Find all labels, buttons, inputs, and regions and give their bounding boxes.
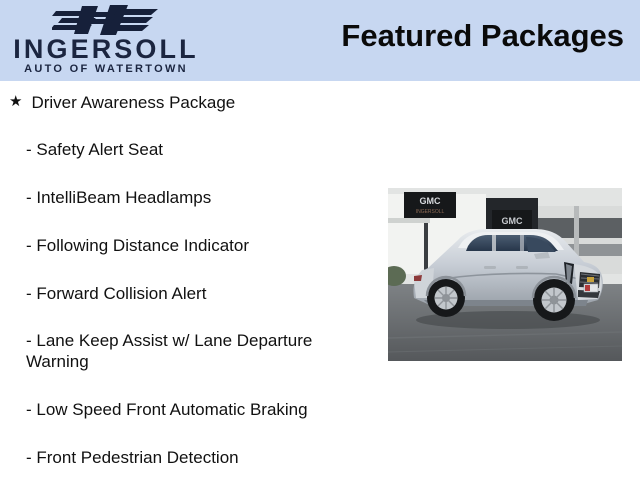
svg-text:INGERSOLL: INGERSOLL [416, 209, 445, 215]
list-item: - Following Distance Indicator [0, 236, 372, 257]
list-item: - Safety Alert Seat [0, 140, 372, 161]
list-item: - Low Speed Front Automatic Braking [0, 400, 372, 421]
package-list: ★ Driver Awareness Package - Safety Aler… [0, 81, 372, 468]
package-name: Driver Awareness Package [31, 93, 235, 113]
list-item: - IntelliBeam Headlamps [0, 188, 372, 209]
svg-text:GMC: GMC [502, 216, 523, 226]
list-item: - Lane Keep Assist w/ Lane Departure War… [0, 331, 372, 372]
package-heading: ★ Driver Awareness Package [0, 81, 372, 113]
ingersoll-wings-emblem [52, 2, 162, 38]
dealer-logo: INGERSOLL AUTO OF WATERTOWN [0, 0, 212, 81]
list-item: - Forward Collision Alert [0, 284, 372, 305]
page-title: Featured Packages [341, 18, 624, 54]
content-area: ★ Driver Awareness Package - Safety Aler… [0, 81, 640, 480]
logo-subtitle: AUTO OF WATERTOWN [0, 64, 212, 75]
star-bullet-icon: ★ [9, 93, 22, 112]
logo-wordmark: INGERSOLL [0, 36, 212, 63]
svg-text:GMC: GMC [420, 196, 441, 206]
header-band: INGERSOLL AUTO OF WATERTOWN Featured Pac… [0, 0, 640, 81]
list-item: - Front Pedestrian Detection [0, 448, 372, 469]
vehicle-photo: GMC INGERSOLL GMC [388, 188, 622, 361]
